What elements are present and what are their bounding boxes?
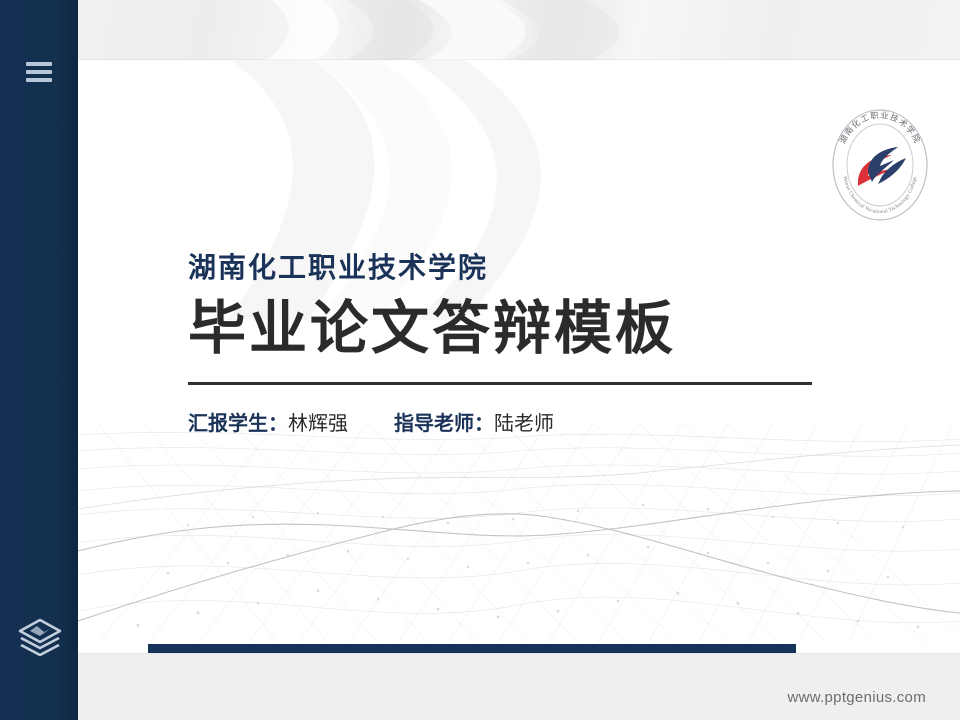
left-rail — [0, 0, 78, 720]
wireframe-mesh-graphic — [78, 413, 960, 643]
layers-stack-icon[interactable] — [14, 612, 66, 664]
university-seal-icon: 湖南化工职业技术学院 Hunan Chemical Vocational Tec… — [824, 106, 936, 224]
university-seal-glyph: 湖南化工职业技术学院 Hunan Chemical Vocational Tec… — [824, 106, 936, 224]
advisor-label: 指导老师： — [394, 413, 494, 435]
page-title: 毕业论文答辩模板 — [188, 298, 828, 361]
title-divider — [188, 382, 812, 385]
hamburger-bar — [26, 78, 52, 82]
slide-canvas[interactable]: 湖南化工职业技术学院 Hunan Chemical Vocational Tec… — [78, 60, 960, 653]
hamburger-bar — [26, 70, 52, 74]
footer-site-url[interactable]: www.pptgenius.com — [788, 689, 927, 706]
background-bottom-band — [0, 648, 960, 720]
mesh-grid — [78, 413, 960, 643]
student-label: 汇报学生： — [188, 413, 288, 435]
hamburger-bar — [26, 62, 52, 66]
layers-stack-glyph — [14, 612, 66, 664]
slide-bottom-accent-bar — [148, 644, 796, 653]
presenter-meta: 汇报学生：林辉强指导老师：陆老师 — [188, 407, 828, 436]
student-name: 林辉强 — [288, 413, 348, 435]
top-curve-shapes — [0, 0, 960, 62]
background-top-curves — [0, 0, 960, 62]
school-name: 湖南化工职业技术学院 — [188, 253, 828, 284]
title-block: 湖南化工职业技术学院 毕业论文答辩模板 汇报学生：林辉强指导老师：陆老师 — [188, 253, 828, 436]
background-top-band — [0, 0, 960, 62]
hamburger-menu-icon[interactable] — [26, 62, 52, 84]
slide-preview-stage: 湖南化工职业技术学院 Hunan Chemical Vocational Tec… — [0, 0, 960, 720]
advisor-name: 陆老师 — [494, 413, 554, 435]
